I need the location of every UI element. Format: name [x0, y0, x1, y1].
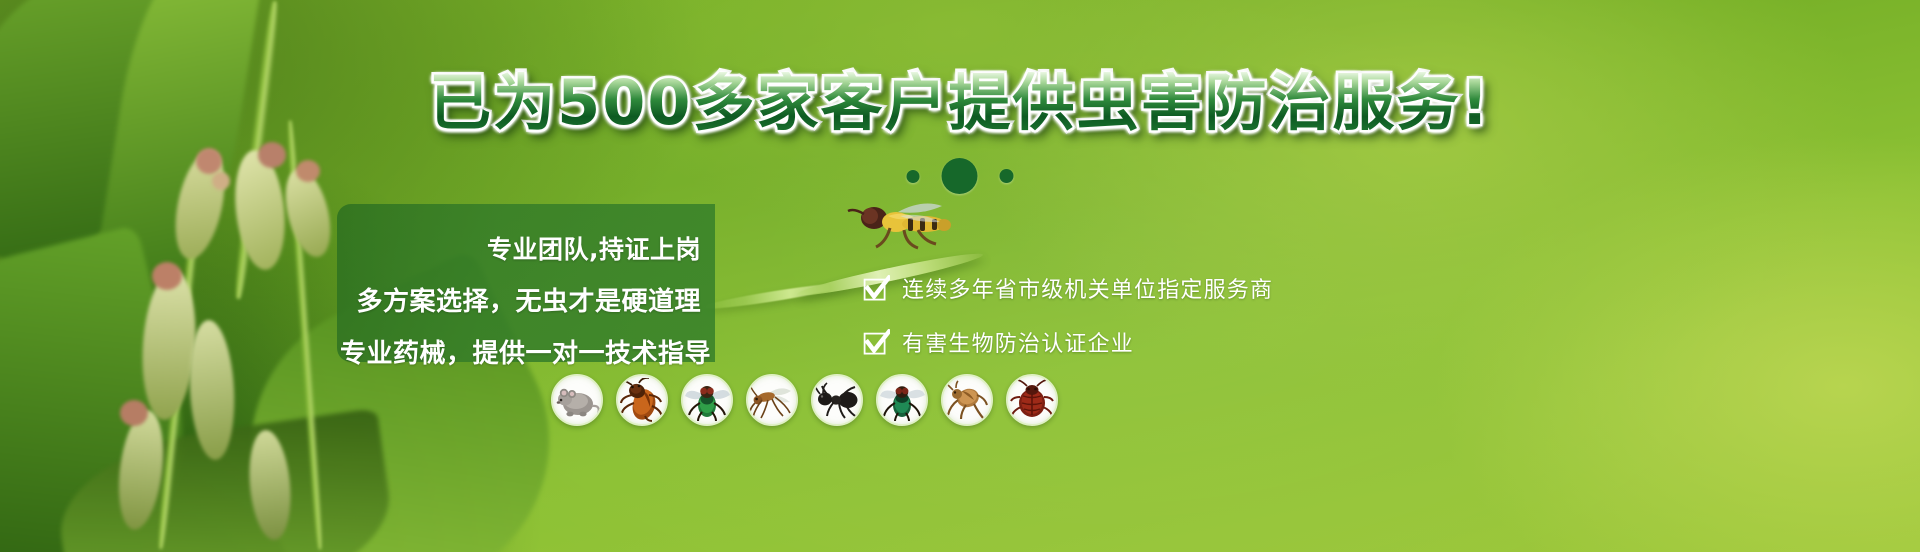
panel-line-2: 多方案选择，无虫才是硬道理: [337, 281, 715, 318]
bullet-text: 有害生物防治认证企业: [902, 326, 1134, 358]
pest-icon-cockroach[interactable]: [616, 374, 668, 426]
hoverfly-illustration: [840, 198, 960, 256]
blue-bottle-fly-icon: [879, 379, 925, 421]
selling-points-panel: 专业团队,持证上岗 多方案选择，无虫才是硬道理 专业药械，提供一对一技术指导: [337, 204, 715, 362]
flea-icon: [944, 379, 990, 421]
list-item: 连续多年省市级机关单位指定服务商: [863, 272, 1273, 304]
dot-medium-icon: [1000, 169, 1014, 183]
credential-bullet-list: 连续多年省市级机关单位指定服务商 有害生物防治认证企业: [863, 272, 1273, 358]
pest-type-icon-row: [551, 374, 1058, 426]
list-item: 有害生物防治认证企业: [863, 326, 1273, 358]
bullet-text: 连续多年省市级机关单位指定服务商: [902, 272, 1273, 304]
ant-icon: [814, 381, 860, 419]
pest-icon-flea[interactable]: [941, 374, 993, 426]
checkbox-checked-icon: [863, 275, 890, 302]
dot-small-icon: [907, 170, 920, 183]
panel-line-3: 专业药械，提供一对一技术指导: [337, 333, 715, 370]
pest-icon-mosquito[interactable]: [746, 374, 798, 426]
pest-icon-ant[interactable]: [811, 374, 863, 426]
rodent-icon: [554, 380, 600, 420]
pest-icon-blue-bottle-fly[interactable]: [876, 374, 928, 426]
page-headline: 已为500多家客户提供虫害防治服务!: [0, 72, 1920, 134]
panel-line-1: 专业团队,持证上岗: [337, 230, 715, 266]
mosquito-icon: [749, 379, 795, 421]
pest-control-hero-banner: 已为500多家客户提供虫害防治服务! 已为500多家客户提供虫害防治服务! 专业…: [0, 0, 1920, 552]
bedbug-icon: [1009, 379, 1055, 421]
pest-icon-bedbug[interactable]: [1006, 374, 1058, 426]
pest-icon-rodent[interactable]: [551, 374, 603, 426]
cockroach-icon: [619, 378, 665, 422]
dot-large-icon: [942, 158, 978, 194]
green-bottle-fly-icon: [684, 379, 730, 421]
headline-decor-dots: [907, 158, 1014, 194]
checkbox-checked-icon: [863, 329, 890, 356]
pest-icon-green-bottle-fly[interactable]: [681, 374, 733, 426]
